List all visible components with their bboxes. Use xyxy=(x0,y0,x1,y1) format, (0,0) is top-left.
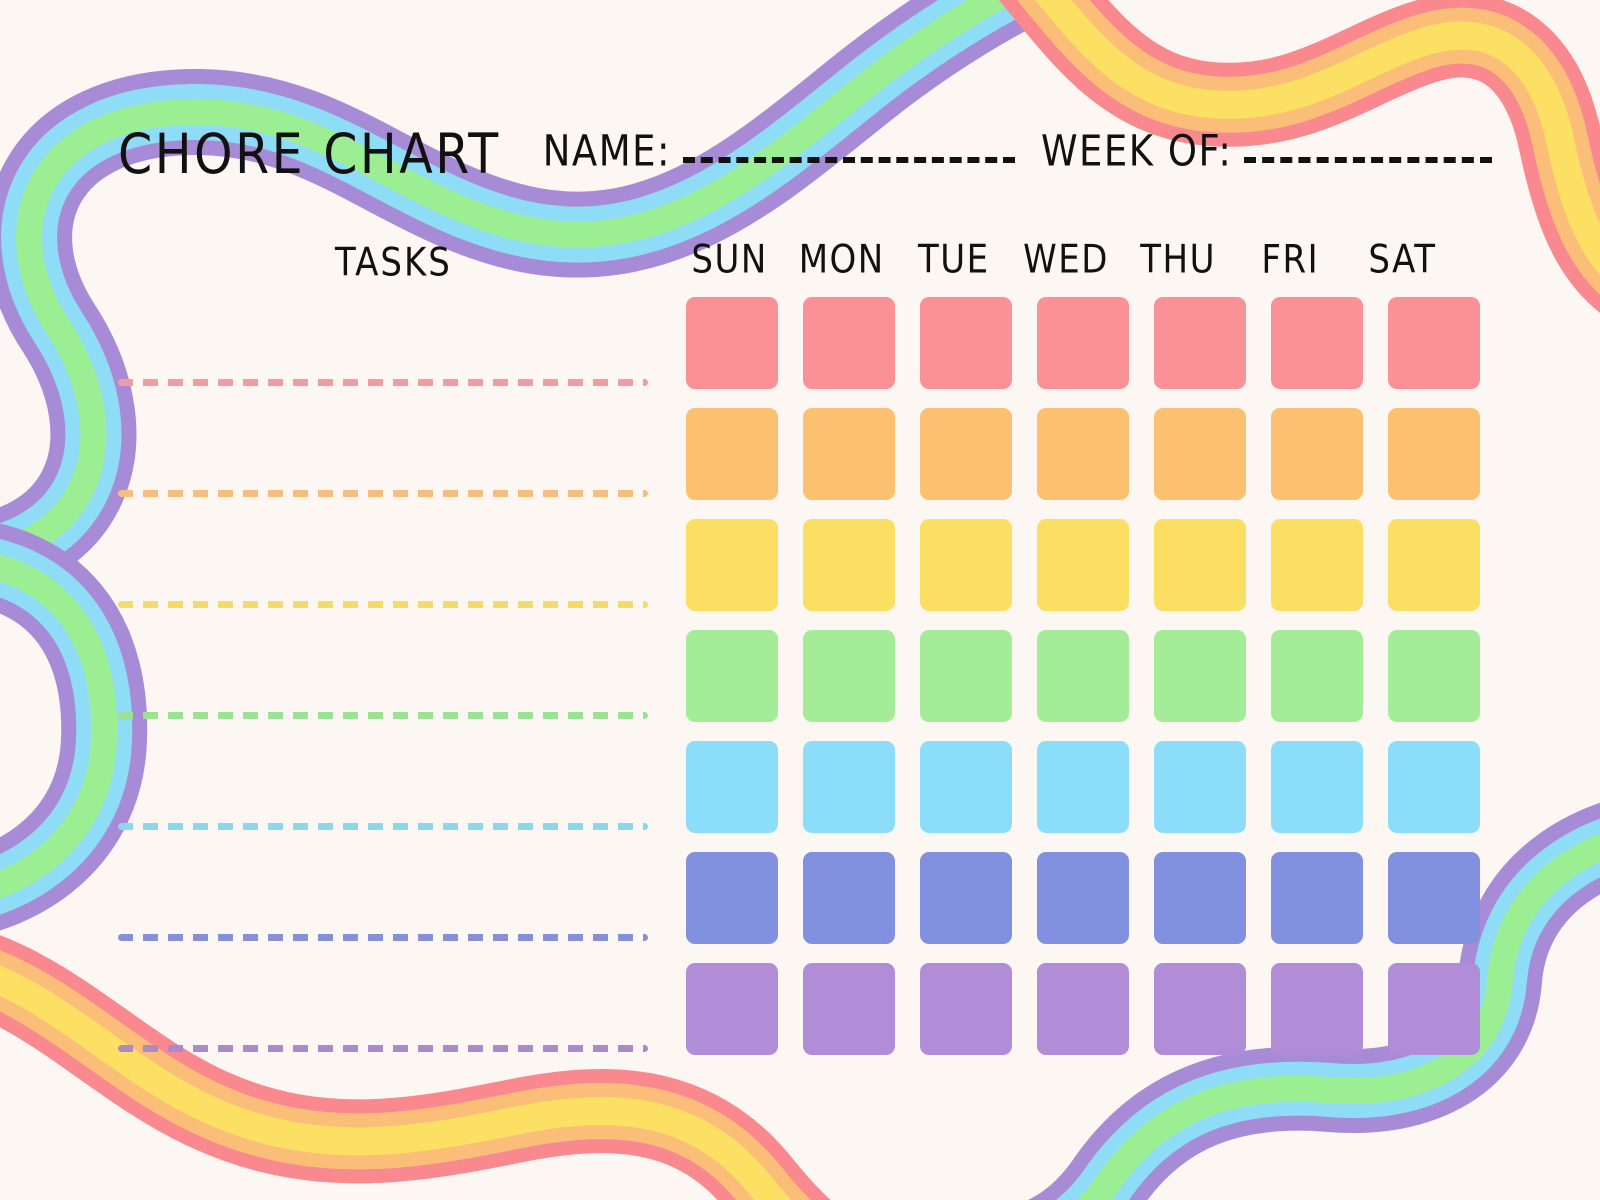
chore-grid xyxy=(686,297,1480,1055)
grid-row-1 xyxy=(686,297,1480,389)
task-input-rule-2[interactable] xyxy=(118,490,648,497)
grid-row-7 xyxy=(686,963,1480,1055)
task-row-3 xyxy=(118,519,648,630)
grid-row-5 xyxy=(686,741,1480,833)
chore-cell-1-sun[interactable] xyxy=(686,297,778,389)
chore-cell-1-wed[interactable] xyxy=(1037,297,1129,389)
task-row-1 xyxy=(118,297,648,408)
grid-row-3 xyxy=(686,519,1480,611)
day-header-tue: TUE xyxy=(910,237,997,283)
chore-cell-7-thu[interactable] xyxy=(1154,963,1246,1055)
task-input-rule-1[interactable] xyxy=(118,379,648,386)
rainbow-left-loop-icon xyxy=(0,560,104,900)
day-header-mon: MON xyxy=(798,237,885,283)
grid-row-2 xyxy=(686,408,1480,500)
chore-cell-3-thu[interactable] xyxy=(1154,519,1246,611)
task-input-rule-5[interactable] xyxy=(118,823,648,830)
chore-cell-2-sun[interactable] xyxy=(686,408,778,500)
task-input-rule-7[interactable] xyxy=(118,1045,648,1052)
chore-cell-7-tue[interactable] xyxy=(920,963,1012,1055)
task-lines-column xyxy=(118,297,648,1074)
chore-cell-2-thu[interactable] xyxy=(1154,408,1246,500)
chore-cell-2-mon[interactable] xyxy=(803,408,895,500)
chore-cell-5-wed[interactable] xyxy=(1037,741,1129,833)
name-input-rule[interactable] xyxy=(683,157,1015,163)
day-column-headers: SUNMONTUEWEDTHUFRISAT xyxy=(686,240,1446,280)
chore-cell-5-sun[interactable] xyxy=(686,741,778,833)
chore-cell-4-fri[interactable] xyxy=(1271,630,1363,722)
chore-cell-4-mon[interactable] xyxy=(803,630,895,722)
day-header-sun: SUN xyxy=(686,237,773,283)
chore-cell-3-tue[interactable] xyxy=(920,519,1012,611)
chore-cell-5-mon[interactable] xyxy=(803,741,895,833)
chore-cell-3-sun[interactable] xyxy=(686,519,778,611)
chore-cell-2-sat[interactable] xyxy=(1388,408,1480,500)
week-of-field[interactable]: WEEK OF: xyxy=(1041,133,1492,176)
chore-cell-4-sun[interactable] xyxy=(686,630,778,722)
chore-cell-6-tue[interactable] xyxy=(920,852,1012,944)
task-row-4 xyxy=(118,630,648,741)
chore-chart-page: CHORE CHART NAME: WEEK OF: TASKS SUNMONT… xyxy=(0,0,1600,1200)
week-of-label: WEEK OF: xyxy=(1041,126,1232,175)
day-header-wed: WED xyxy=(1022,237,1109,283)
page-title: CHORE CHART xyxy=(118,122,501,186)
task-input-rule-3[interactable] xyxy=(118,601,648,608)
chore-cell-1-thu[interactable] xyxy=(1154,297,1246,389)
day-header-thu: THU xyxy=(1135,237,1222,283)
chore-cell-1-tue[interactable] xyxy=(920,297,1012,389)
chore-cell-3-wed[interactable] xyxy=(1037,519,1129,611)
chore-cell-4-thu[interactable] xyxy=(1154,630,1246,722)
chore-cell-4-sat[interactable] xyxy=(1388,630,1480,722)
week-of-input-rule[interactable] xyxy=(1244,157,1492,163)
chart-header: CHORE CHART NAME: WEEK OF: xyxy=(118,118,1488,190)
day-header-sat: SAT xyxy=(1359,237,1446,283)
day-header-fri: FRI xyxy=(1247,237,1334,283)
chore-cell-7-sat[interactable] xyxy=(1388,963,1480,1055)
chore-cell-7-sun[interactable] xyxy=(686,963,778,1055)
chore-cell-1-mon[interactable] xyxy=(803,297,895,389)
chore-cell-2-fri[interactable] xyxy=(1271,408,1363,500)
chore-cell-7-mon[interactable] xyxy=(803,963,895,1055)
chore-cell-6-sat[interactable] xyxy=(1388,852,1480,944)
chore-cell-6-fri[interactable] xyxy=(1271,852,1363,944)
chore-cell-5-fri[interactable] xyxy=(1271,741,1363,833)
chore-cell-5-sat[interactable] xyxy=(1388,741,1480,833)
task-row-5 xyxy=(118,741,648,852)
name-label: NAME: xyxy=(543,126,671,175)
chore-cell-2-wed[interactable] xyxy=(1037,408,1129,500)
chore-cell-1-fri[interactable] xyxy=(1271,297,1363,389)
chore-cell-2-tue[interactable] xyxy=(920,408,1012,500)
chore-cell-7-wed[interactable] xyxy=(1037,963,1129,1055)
task-row-2 xyxy=(118,408,648,519)
task-input-rule-6[interactable] xyxy=(118,934,648,941)
chore-cell-1-sat[interactable] xyxy=(1388,297,1480,389)
chore-cell-3-mon[interactable] xyxy=(803,519,895,611)
chore-cell-6-sun[interactable] xyxy=(686,852,778,944)
grid-row-6 xyxy=(686,852,1480,944)
chore-cell-3-fri[interactable] xyxy=(1271,519,1363,611)
task-input-rule-4[interactable] xyxy=(118,712,648,719)
chore-cell-6-mon[interactable] xyxy=(803,852,895,944)
grid-row-4 xyxy=(686,630,1480,722)
chore-cell-5-thu[interactable] xyxy=(1154,741,1246,833)
chore-cell-4-tue[interactable] xyxy=(920,630,1012,722)
chore-cell-7-fri[interactable] xyxy=(1271,963,1363,1055)
chore-cell-6-wed[interactable] xyxy=(1037,852,1129,944)
chore-cell-3-sat[interactable] xyxy=(1388,519,1480,611)
name-field[interactable]: NAME: xyxy=(543,133,1015,176)
task-row-7 xyxy=(118,963,648,1074)
chore-cell-4-wed[interactable] xyxy=(1037,630,1129,722)
task-row-6 xyxy=(118,852,648,963)
tasks-column-header: TASKS xyxy=(335,240,452,286)
chore-cell-6-thu[interactable] xyxy=(1154,852,1246,944)
chore-cell-5-tue[interactable] xyxy=(920,741,1012,833)
